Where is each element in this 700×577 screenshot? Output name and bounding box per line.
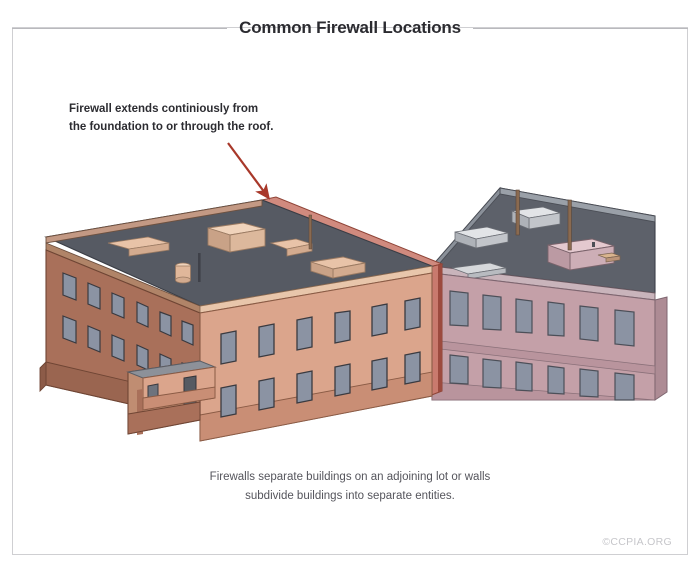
- page-title: Common Firewall Locations: [239, 18, 461, 38]
- caption-line-1: Firewalls separate buildings on an adjoi…: [0, 468, 700, 487]
- title-bar: Common Firewall Locations: [12, 14, 688, 42]
- copyright-notice: ©CCPIA.ORG: [602, 536, 672, 548]
- annotation-line-2: the foundation to or through the roof.: [69, 119, 329, 137]
- figure-caption: Firewalls separate buildings on an adjoi…: [0, 468, 700, 505]
- firewall-annotation: Firewall extends continiously from the f…: [69, 101, 329, 137]
- title-rule-right: [473, 28, 688, 29]
- caption-line-2: subdivide buildings into separate entiti…: [0, 487, 700, 506]
- diagram-page: Common Firewall Locations: [0, 0, 700, 577]
- title-rule-left: [12, 28, 227, 29]
- annotation-line-1: Firewall extends continiously from: [69, 101, 329, 119]
